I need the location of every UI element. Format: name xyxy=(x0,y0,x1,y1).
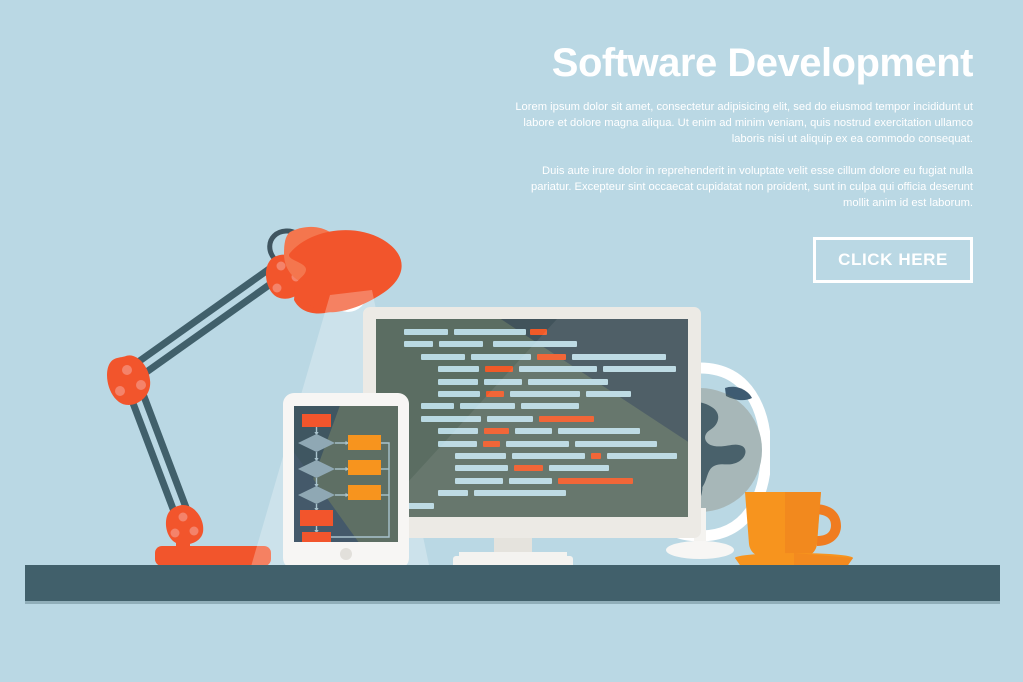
hero-text-block: Software Development Lorem ipsum dolor s… xyxy=(503,42,973,283)
hero-paragraph-2: Duis aute irure dolor in reprehenderit i… xyxy=(503,164,973,212)
code-line-segment xyxy=(421,403,454,409)
flowchart-end-box xyxy=(302,532,331,542)
code-line-segment xyxy=(438,366,479,372)
flowchart-process-box xyxy=(300,510,333,526)
code-line-segment xyxy=(438,379,478,385)
tablet-device xyxy=(283,393,409,569)
flowchart-start-box xyxy=(302,414,331,427)
code-line-segment xyxy=(438,391,480,397)
tablet-home-button[interactable] xyxy=(340,548,352,560)
tablet-screen xyxy=(294,406,398,542)
code-line-segment xyxy=(454,329,526,335)
page-title: Software Development xyxy=(503,42,973,84)
code-line-segment xyxy=(439,341,483,347)
desk-shadow xyxy=(25,601,1000,604)
desktop-monitor xyxy=(363,307,701,538)
flowchart-branch-box-1 xyxy=(348,435,381,450)
illustration-canvas: Software Development Lorem ipsum dolor s… xyxy=(0,0,1023,682)
click-here-button[interactable]: CLICK HERE xyxy=(813,237,973,283)
desk-surface xyxy=(25,565,1000,601)
flowchart-branch-box-2 xyxy=(348,460,381,475)
flowchart-branch-box-3 xyxy=(348,485,381,500)
monitor-screen xyxy=(376,319,688,517)
code-line-segment xyxy=(404,341,433,347)
code-line-segment xyxy=(404,329,448,335)
code-line-segment xyxy=(421,354,465,360)
coffee-cup xyxy=(733,478,855,568)
hero-paragraph-1: Lorem ipsum dolor sit amet, consectetur … xyxy=(503,100,973,148)
code-line-segment xyxy=(485,366,513,372)
